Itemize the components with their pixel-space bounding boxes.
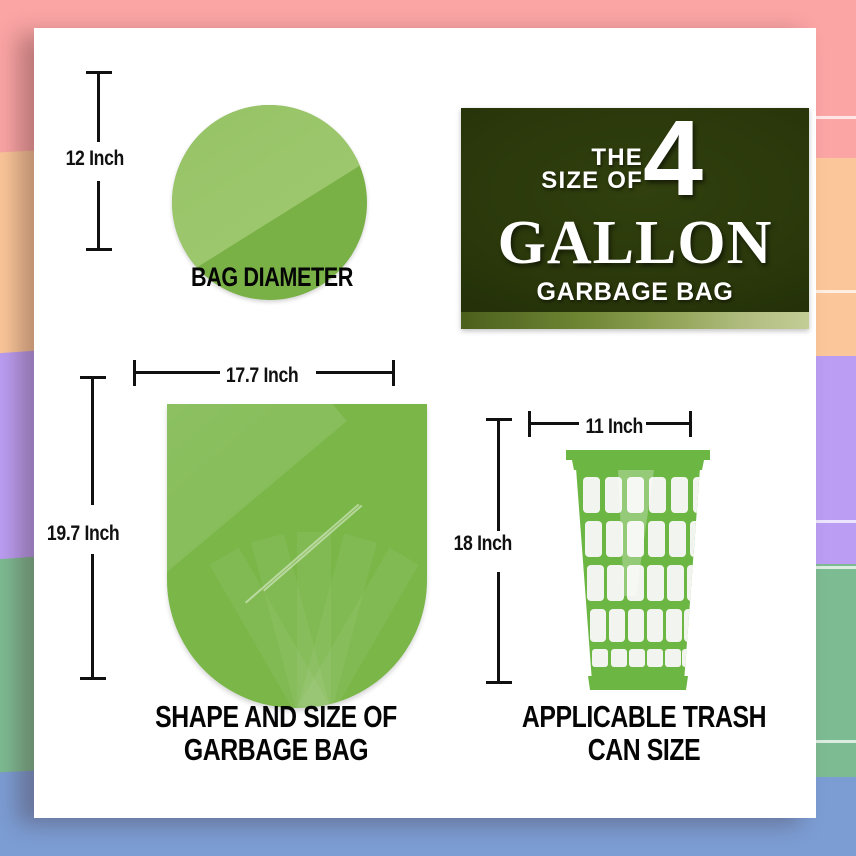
banner-text-group: THE SIZE OF 4 GALLON GARBAGE BAG xyxy=(461,108,809,312)
banner-footer-strip xyxy=(461,312,809,329)
product-info-card: 12 Inch BAG DIAMETER 17.7 Inch 19.7 Inch xyxy=(34,28,816,818)
diameter-dimension-label: 12 Inch xyxy=(66,147,124,171)
trash-can-caption: APPLICABLE TRASH CAN SIZE xyxy=(468,700,820,767)
banner-size-of-label: SIZE OF xyxy=(461,167,643,195)
garbage-bag-illustration xyxy=(167,404,427,708)
bag-shape xyxy=(167,404,427,708)
trash-can-shape xyxy=(558,446,718,706)
bag-diameter-caption: BAG DIAMETER xyxy=(128,263,416,292)
background-streak xyxy=(816,740,856,743)
size-banner: THE SIZE OF 4 GALLON GARBAGE BAG xyxy=(461,108,809,329)
bag-shape-caption-line1: SHAPE AND SIZE OF xyxy=(100,700,452,733)
trash-can-caption-line2: CAN SIZE xyxy=(468,733,820,766)
can-height-label: 18 Inch xyxy=(454,532,512,556)
bag-shape-caption-line2: GARBAGE BAG xyxy=(100,733,452,766)
banner-number: 4 xyxy=(643,108,703,212)
banner-gallon-label: GALLON xyxy=(461,212,809,274)
trash-can-caption-line1: APPLICABLE TRASH xyxy=(468,700,820,733)
can-width-label: 11 Inch xyxy=(585,415,642,439)
trash-can-illustration xyxy=(558,446,718,706)
bag-height-label: 19.7 Inch xyxy=(47,522,119,546)
bag-shape-caption: SHAPE AND SIZE OF GARBAGE BAG xyxy=(100,700,452,767)
bag-width-label: 17.7 Inch xyxy=(226,364,298,388)
banner-subtitle: GARBAGE BAG xyxy=(461,278,809,307)
